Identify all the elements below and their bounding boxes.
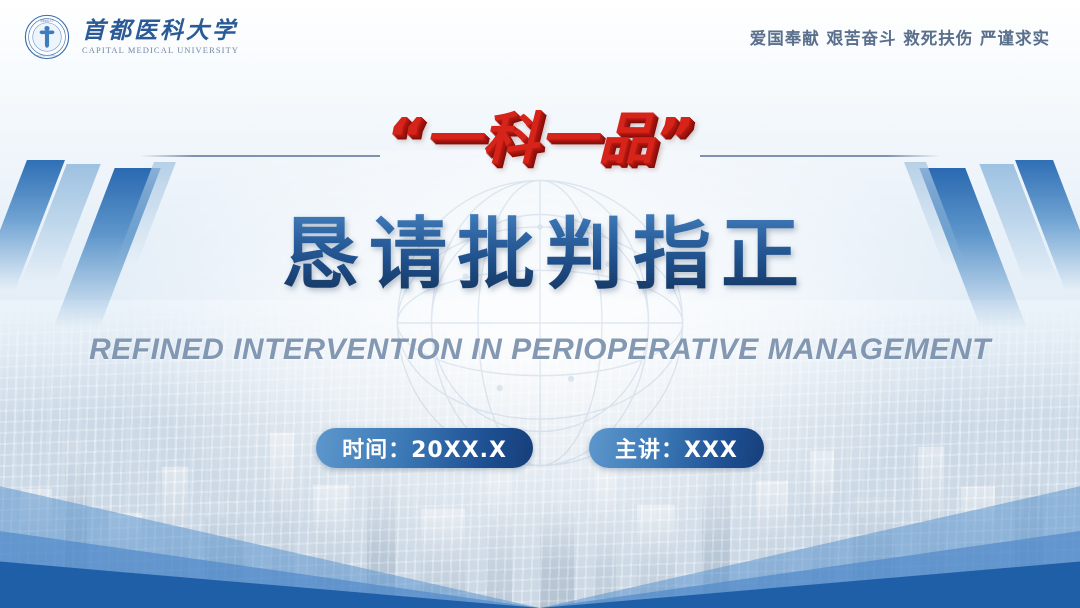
date-pill: 时间：20XX.X [316,428,533,468]
university-name-cn: 首都医科大学 [82,19,239,43]
university-name-en: CAPITAL MEDICAL UNIVERSITY [82,45,239,55]
svg-text:CAPITAL MEDICAL UNIVERSITY: CAPITAL MEDICAL UNIVERSITY [35,54,61,57]
slide-main-title: 恳请批判指正 [0,214,1080,296]
title-slide: 首都医科大学 CAPITAL MEDICAL UNIVERSITY 首都医科大学… [0,0,1080,608]
program-headline: “一科一品” [380,94,700,175]
speaker-pill: 主讲：XXX [589,428,764,468]
headline-rule-right [700,155,940,157]
slide-english-subtitle: REFINED INTERVENTION IN PERIOPERATIVE MA… [0,333,1080,367]
headline-row: “一科一品” [0,92,1080,176]
meta-pill-row: 时间：20XX.X 主讲：XXX [0,428,1080,468]
headline-rule-left [140,155,380,157]
slide-header: 首都医科大学 CAPITAL MEDICAL UNIVERSITY 首都医科大学… [0,0,1080,74]
university-motto: 爱国奉献 艰苦奋斗 救死扶伤 严谨求实 [750,25,1050,49]
university-brand: 首都医科大学 CAPITAL MEDICAL UNIVERSITY 首都医科大学… [24,14,239,60]
university-name-block: 首都医科大学 CAPITAL MEDICAL UNIVERSITY [82,19,239,54]
university-emblem-icon: 首都医科大学 CAPITAL MEDICAL UNIVERSITY [24,14,70,60]
